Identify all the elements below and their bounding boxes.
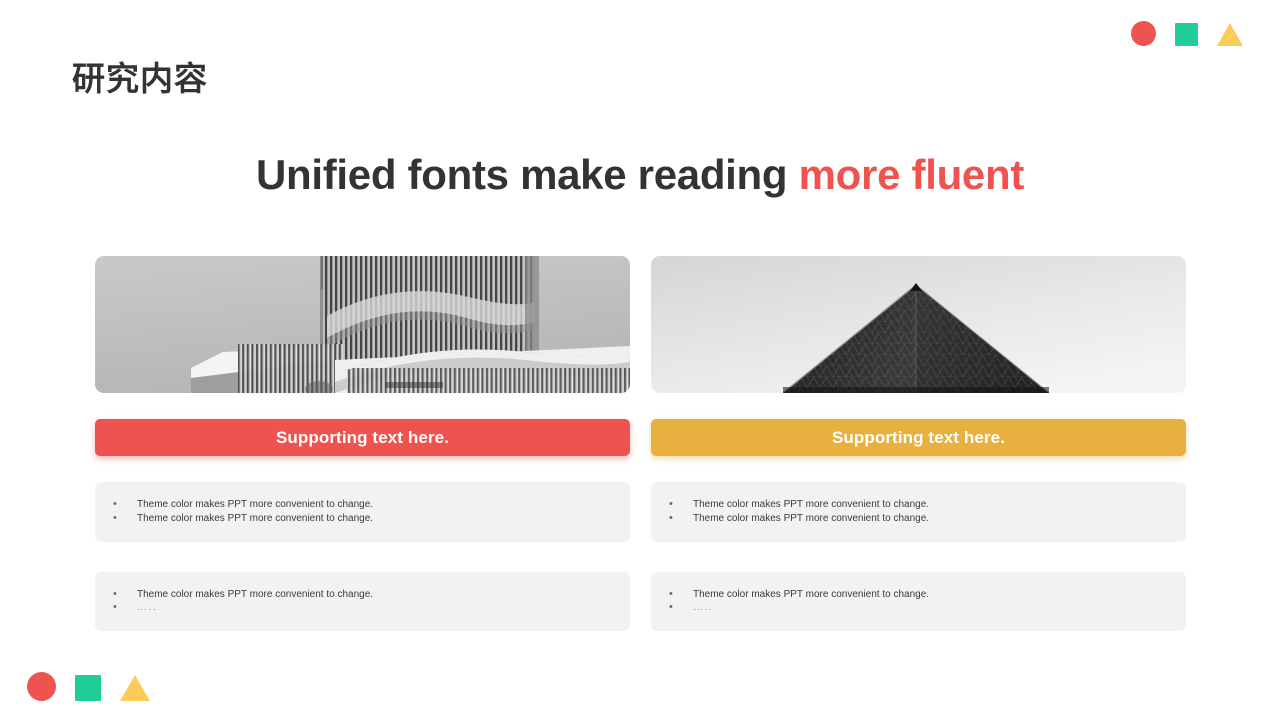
column-right: Supporting text here. • Theme color make…: [651, 256, 1186, 631]
bullet-box-right-first: • Theme color makes PPT more convenient …: [651, 482, 1186, 542]
list-item-label: Theme color makes PPT more convenient to…: [693, 588, 1164, 601]
bullet-dot-icon: •: [109, 512, 137, 526]
list-item-label: Theme color makes PPT more convenient to…: [137, 512, 608, 525]
list-item: • Theme color makes PPT more convenient …: [109, 588, 608, 602]
bullet-dot-icon: •: [109, 498, 137, 512]
list-item-label: …..: [693, 601, 1164, 614]
circle-shape-icon: [27, 672, 56, 701]
bullet-dot-icon: •: [665, 512, 693, 526]
list-item: • Theme color makes PPT more convenient …: [665, 498, 1164, 512]
list-item: • …..: [109, 601, 608, 615]
page-title: 研究内容: [72, 58, 208, 99]
square-shape-icon: [1175, 23, 1198, 46]
bullet-dot-icon: •: [109, 601, 137, 615]
list-item: • …..: [665, 601, 1164, 615]
bullet-dot-icon: •: [109, 588, 137, 602]
bullet-box-right-second: • Theme color makes PPT more convenient …: [651, 572, 1186, 632]
bullet-dot-icon: •: [665, 588, 693, 602]
main-heading-accent: more fluent: [799, 151, 1024, 198]
bullet-dot-icon: •: [665, 498, 693, 512]
list-item: • Theme color makes PPT more convenient …: [665, 588, 1164, 602]
main-heading: Unified fonts make reading more fluent: [0, 150, 1280, 200]
list-item-label: Theme color makes PPT more convenient to…: [693, 498, 1164, 511]
column-left: Supporting text here. • Theme color make…: [95, 256, 630, 631]
photo-pyramid-roof: [651, 256, 1186, 393]
banner-supporting-text-left[interactable]: Supporting text here.: [95, 419, 630, 456]
bullet-dot-icon: •: [665, 601, 693, 615]
list-item-label: Theme color makes PPT more convenient to…: [137, 498, 608, 511]
list-item: • Theme color makes PPT more convenient …: [665, 512, 1164, 526]
list-item-label: Theme color makes PPT more convenient to…: [137, 588, 608, 601]
content-columns: Supporting text here. • Theme color make…: [95, 256, 1185, 631]
bullet-box-left-first: • Theme color makes PPT more convenient …: [95, 482, 630, 542]
banner-supporting-text-right[interactable]: Supporting text here.: [651, 419, 1186, 456]
square-shape-icon: [75, 675, 101, 701]
triangle-shape-icon: [1217, 23, 1243, 46]
main-heading-plain: Unified fonts make reading: [256, 151, 799, 198]
list-item-label: …..: [137, 601, 608, 614]
bullet-box-left-second: • Theme color makes PPT more convenient …: [95, 572, 630, 632]
triangle-shape-icon: [120, 675, 150, 701]
circle-shape-icon: [1131, 21, 1156, 46]
list-item-label: Theme color makes PPT more convenient to…: [693, 512, 1164, 525]
list-item: • Theme color makes PPT more convenient …: [109, 498, 608, 512]
decoration-top-right: [1131, 21, 1243, 46]
decoration-bottom-left: [27, 672, 150, 701]
list-item: • Theme color makes PPT more convenient …: [109, 512, 608, 526]
photo-building-louvers: [95, 256, 630, 393]
